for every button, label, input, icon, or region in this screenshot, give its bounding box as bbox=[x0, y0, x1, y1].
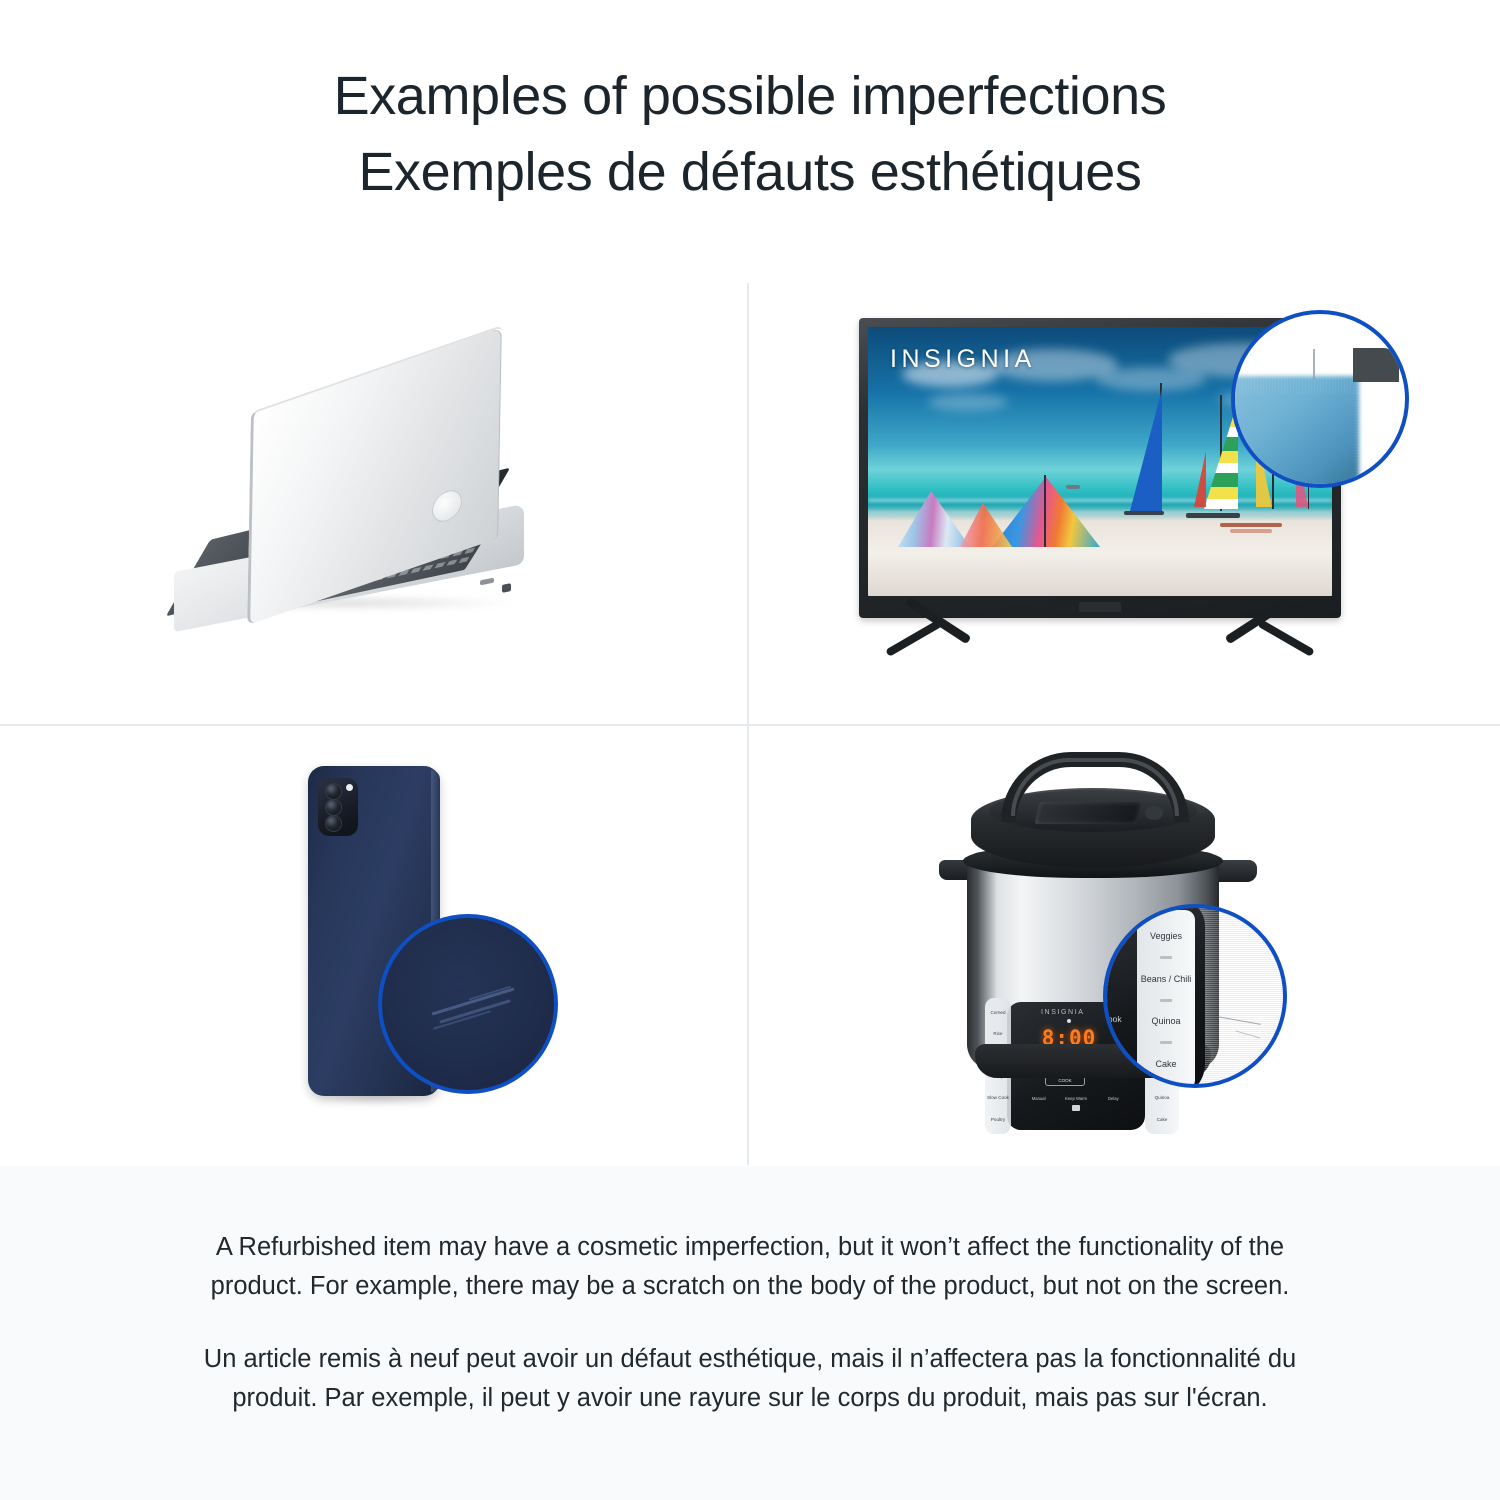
caption-text-en: A Refurbished item may have a cosmetic i… bbox=[170, 1228, 1330, 1306]
laptop-illustration bbox=[150, 363, 570, 663]
cooker-right-button[interactable]: Cake bbox=[1157, 1117, 1168, 1123]
magnifier-circle-pressure-cooker: Delay Slow Cook Veggies Beans / Chili Qu… bbox=[1103, 904, 1287, 1088]
magnifier-circle-tv bbox=[1231, 310, 1409, 488]
tv-leg-right-back bbox=[1257, 619, 1315, 657]
cooker-zoom-button-strip: Veggies Beans / Chili Quinoa Cake bbox=[1137, 910, 1195, 1088]
cooker-inner-button[interactable] bbox=[1072, 1105, 1080, 1111]
caption-panel: A Refurbished item may have a cosmetic i… bbox=[0, 1166, 1500, 1500]
tv-scuff-mark bbox=[1313, 349, 1315, 379]
cooker-zoom-button-tick bbox=[1160, 1041, 1172, 1044]
example-cell-tv: INSIGNIA bbox=[749, 283, 1496, 724]
tv-screen-logo: INSIGNIA bbox=[890, 345, 1036, 374]
cooker-inner-label: Keep Warm bbox=[1065, 1096, 1087, 1101]
phone-scratch-mark bbox=[439, 999, 511, 1023]
cooker-left-button[interactable]: Corned bbox=[990, 1010, 1005, 1016]
cooker-inner-label: Manual bbox=[1032, 1096, 1046, 1101]
laptop-power-port bbox=[502, 583, 511, 593]
page-title: Examples of possible imperfections Exemp… bbox=[0, 58, 1500, 210]
cooker-inner-label: Delay bbox=[1108, 1096, 1119, 1101]
cooker-zoom-button-tick bbox=[1160, 956, 1172, 959]
tv-illustration: INSIGNIA bbox=[859, 318, 1359, 678]
cooker-zoom-button-tick bbox=[1160, 999, 1172, 1002]
cooker-zoom-button[interactable]: Cake bbox=[1155, 1059, 1176, 1069]
cooker-left-button[interactable]: Poultry bbox=[991, 1117, 1005, 1123]
cooker-inner-button-grid: Manual Keep Warm Delay bbox=[1021, 1090, 1131, 1126]
cooker-zoom-button[interactable]: Veggies bbox=[1150, 931, 1182, 941]
example-cell-phone bbox=[0, 726, 747, 1167]
camera-module-icon bbox=[318, 778, 358, 836]
camera-lens-icon bbox=[325, 799, 342, 816]
tv-ir-sensor bbox=[1079, 602, 1121, 612]
cooker-right-button[interactable]: Quinoa bbox=[1155, 1095, 1170, 1101]
cooker-left-button[interactable]: Slow Cook bbox=[987, 1095, 1009, 1101]
refurbished-imperfections-infographic: Examples of possible imperfections Exemp… bbox=[0, 0, 1500, 1500]
phone-illustration bbox=[290, 766, 470, 1126]
tv-zoom-bezel-corner bbox=[1353, 348, 1399, 382]
cooker-indicator-light bbox=[1067, 1019, 1071, 1023]
cooker-brand-logo: INSIGNIA bbox=[1041, 1009, 1085, 1016]
camera-lens-icon bbox=[325, 783, 342, 800]
title-line-en: Examples of possible imperfections bbox=[0, 58, 1500, 134]
tv-leg-left-back bbox=[885, 619, 943, 657]
cooker-left-button[interactable]: Rice bbox=[993, 1031, 1002, 1037]
camera-lens-icon bbox=[325, 815, 342, 832]
cooker-zoom-button[interactable]: Beans / Chili bbox=[1141, 974, 1192, 984]
magnifier-circle-phone bbox=[378, 914, 558, 1094]
example-cell-laptop bbox=[0, 283, 747, 724]
caption-text-fr: Un article remis à neuf peut avoir un dé… bbox=[170, 1340, 1330, 1418]
laptop-usb-port bbox=[480, 578, 494, 586]
title-line-fr: Exemples de défauts esthétiques bbox=[0, 134, 1500, 210]
camera-flash-icon bbox=[346, 784, 353, 791]
product-example-grid: INSIGNIA bbox=[0, 283, 1500, 1165]
cooker-zoom-button[interactable]: Quinoa bbox=[1151, 1016, 1180, 1026]
laptop-lid-edge bbox=[247, 325, 503, 626]
example-cell-pressure-cooker: INSIGNIA 8:00 PRESSURE COOK Manual Kee bbox=[749, 726, 1496, 1167]
pressure-cooker-illustration: INSIGNIA 8:00 PRESSURE COOK Manual Kee bbox=[949, 744, 1279, 1114]
